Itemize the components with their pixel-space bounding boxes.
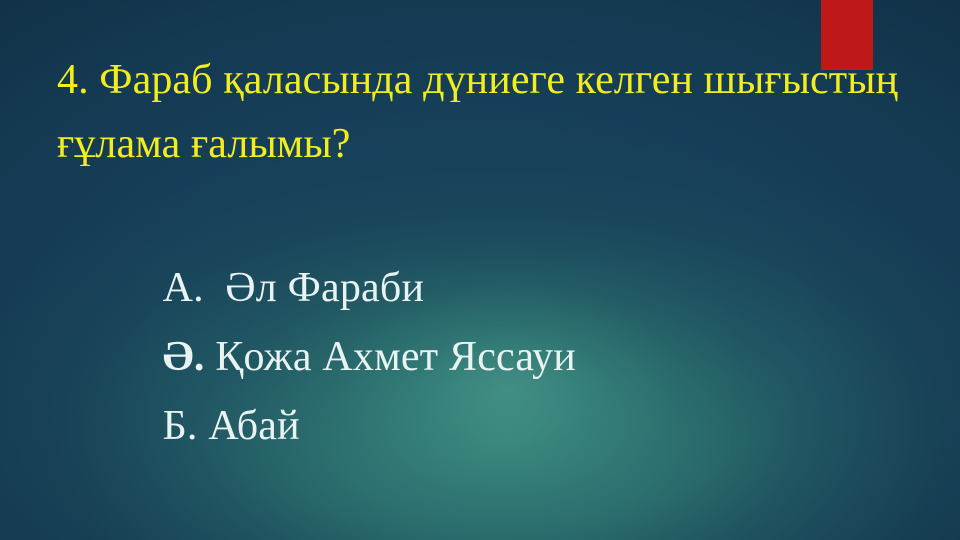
answer-option-e-label: Қожа Ахмет Яссауи <box>205 334 576 380</box>
question-text: 4. Фараб қаласында дүниеге келген шығыст… <box>57 49 957 177</box>
answer-option-e-marker: Ә. <box>163 334 205 380</box>
presentation-slide: 4. Фараб қаласында дүниеге келген шығыст… <box>0 0 960 540</box>
answer-option-b-label: Абай <box>198 403 300 449</box>
answer-options-list: А. Әл Фараби Ә. Қожа Ахмет Яссауи Б. Аба… <box>77 185 937 392</box>
slide-content: 4. Фараб қаласында дүниеге келген шығыст… <box>0 0 960 540</box>
answer-option-a-label: Әл Фараби <box>204 265 424 311</box>
answer-option-a[interactable]: А. Әл Фараби <box>77 185 937 254</box>
answer-option-a-marker: А. <box>163 265 204 311</box>
answer-option-b-marker: Б. <box>163 403 198 449</box>
